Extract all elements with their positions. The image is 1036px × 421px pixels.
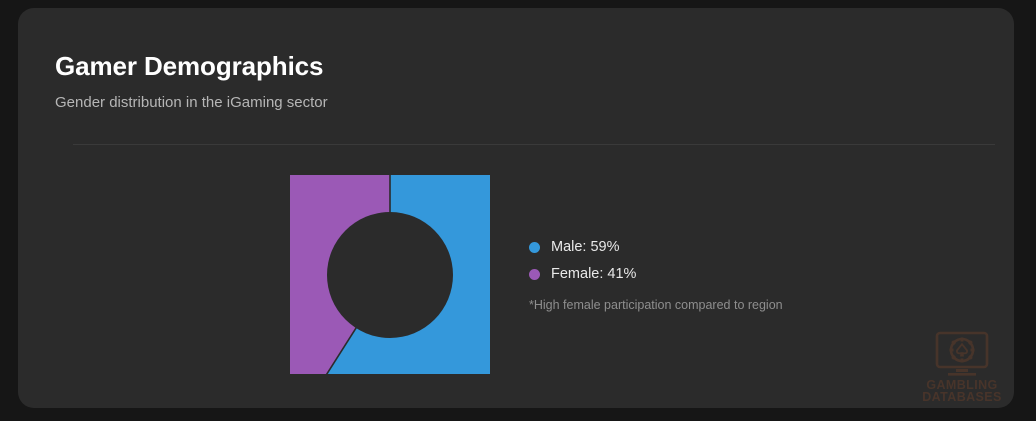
legend-color-dot-female xyxy=(529,269,540,280)
legend-label-male: Male: 59% xyxy=(551,240,620,255)
card-header: Gamer Demographics Gender distribution i… xyxy=(55,52,977,112)
demographics-card: Gamer Demographics Gender distribution i… xyxy=(18,8,1014,408)
page-subtitle: Gender distribution in the iGaming secto… xyxy=(55,82,977,112)
legend-item-male[interactable]: Male: 59% xyxy=(529,234,949,261)
donut-center-hole xyxy=(327,212,453,338)
header-divider xyxy=(73,144,995,145)
page-title: Gamer Demographics xyxy=(55,52,977,82)
legend-color-dot-male xyxy=(529,242,540,253)
legend-footnote: *High female participation compared to r… xyxy=(529,298,949,313)
legend-item-female[interactable]: Female: 41% xyxy=(529,261,949,288)
legend-label-female: Female: 41% xyxy=(551,267,636,282)
donut-chart xyxy=(290,175,490,374)
chart-legend: Male: 59% Female: 41% *High female parti… xyxy=(529,234,949,313)
chart-area: Male: 59% Female: 41% *High female parti… xyxy=(73,158,995,398)
